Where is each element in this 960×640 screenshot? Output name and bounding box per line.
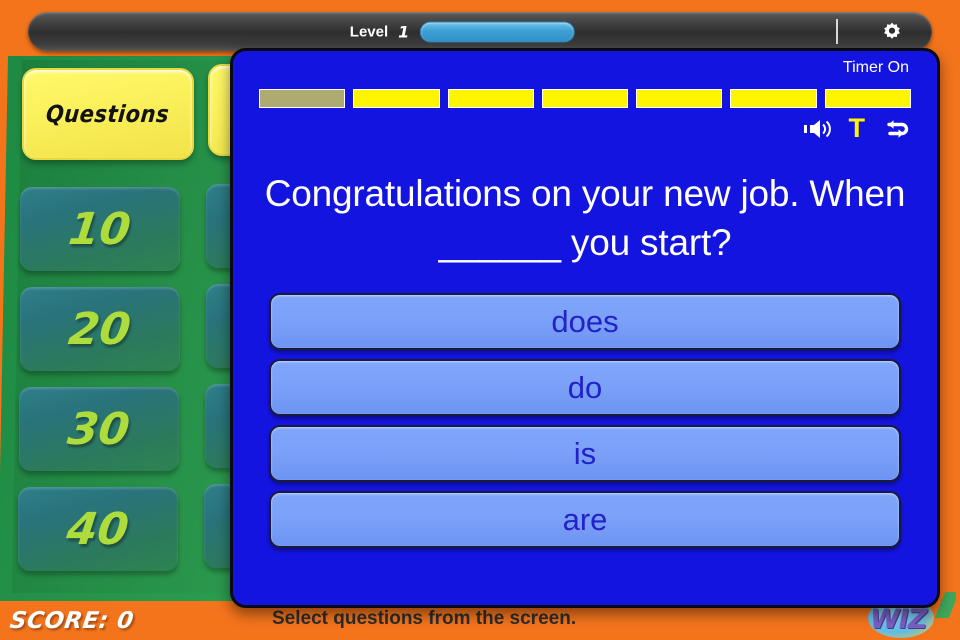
quiz-tool-icons: T [803,115,912,142]
progress-segment [825,89,911,108]
toolbar-divider [836,19,838,44]
level-label: Level [350,23,388,40]
repeat-icon[interactable] [881,116,911,142]
level-number: 1 [398,22,409,41]
progress-segment [448,89,534,108]
category-label: Questions [45,101,171,128]
point-value: 30 [65,404,132,455]
score-display: SCORE: 0 [8,608,135,634]
top-toolbar: Level 1 [28,12,932,51]
category-card-1[interactable]: Questions [22,68,194,160]
progress-segment [353,89,439,108]
status-message: Select questions from the screen. [272,608,576,630]
progress-segment [542,89,628,108]
progress-segment [730,89,816,108]
point-tile[interactable]: 20 [20,287,180,371]
progress-segment [259,89,345,108]
point-tile[interactable]: 30 [19,387,179,471]
text-icon[interactable]: T [849,115,866,142]
point-tile[interactable]: 40 [18,487,178,571]
level-progress-bar [419,21,574,42]
game-screen: Questions 10 20 30 40 10 20 30 40 SCORE:… [0,0,960,640]
progress-segment [636,89,722,108]
point-tile[interactable]: 10 [20,187,180,271]
question-text: Congratulations on your new job. When __… [251,169,919,267]
speaker-icon[interactable] [803,116,833,142]
quiz-panel: Timer On T [230,48,940,608]
answer-option[interactable]: does [269,293,901,350]
question-progress-bar [259,89,911,108]
answer-option[interactable]: is [269,425,901,482]
answer-option[interactable]: are [269,491,901,548]
point-value: 10 [66,204,133,255]
point-value: 40 [64,504,131,555]
logo-text: WIZ [870,604,926,635]
gear-icon[interactable] [880,20,904,44]
timer-status-label: Timer On [843,59,909,77]
point-value: 20 [66,304,133,355]
level-indicator: Level 1 [350,21,575,42]
answer-option[interactable]: do [269,359,901,416]
answer-list: does do is are [269,293,901,548]
